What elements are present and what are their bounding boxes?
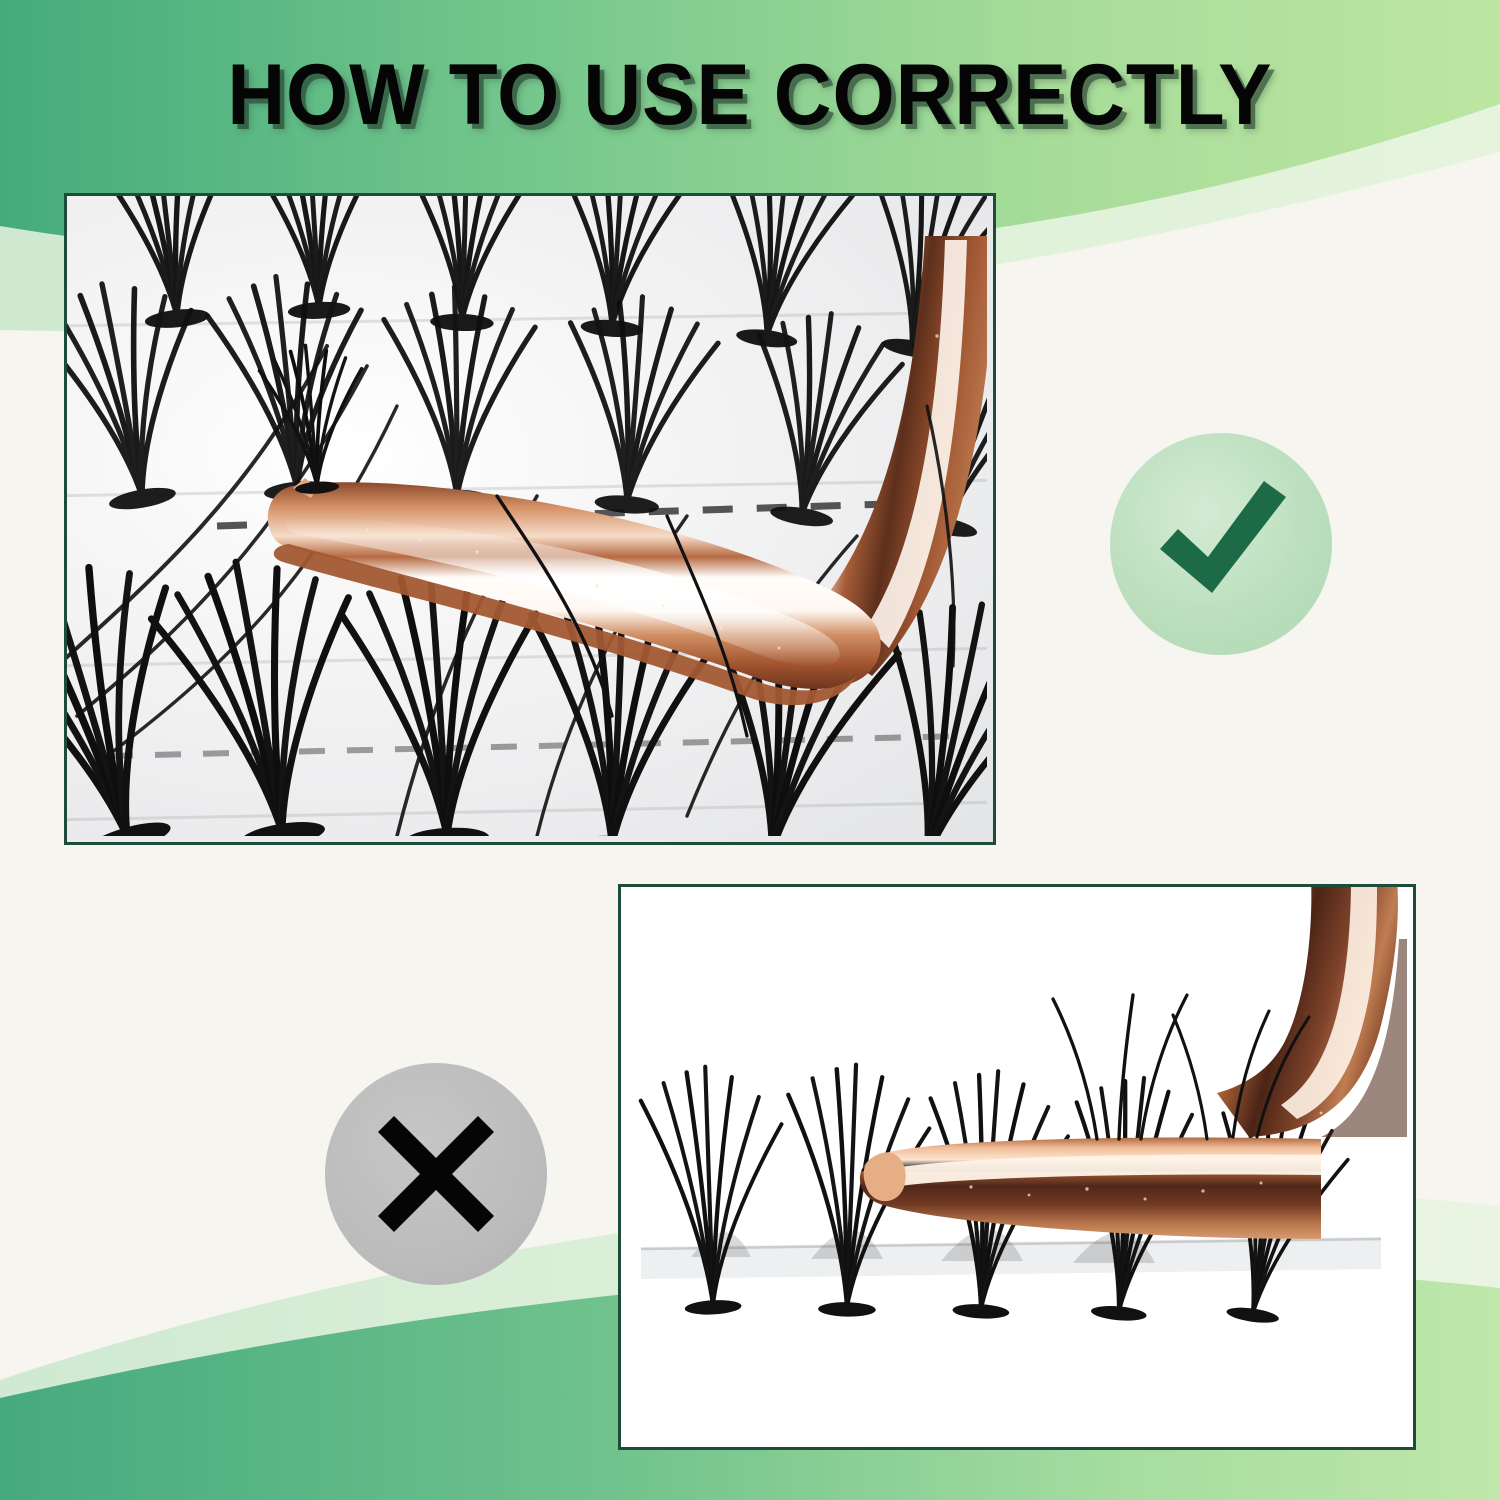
incorrect-photo-inner xyxy=(621,887,1413,1447)
lash-tray-illustration-bottom xyxy=(621,887,1407,1441)
correct-photo-inner xyxy=(67,196,993,842)
correct-method-photo xyxy=(64,193,996,845)
incorrect-method-photo xyxy=(618,884,1416,1450)
check-icon xyxy=(1146,469,1296,619)
cross-icon xyxy=(374,1112,498,1236)
correct-badge xyxy=(1110,433,1332,655)
infographic-canvas: HOW TO USE CORRECTLY xyxy=(0,0,1500,1500)
incorrect-badge xyxy=(325,1063,547,1285)
lash-tray-illustration-top xyxy=(67,196,987,836)
